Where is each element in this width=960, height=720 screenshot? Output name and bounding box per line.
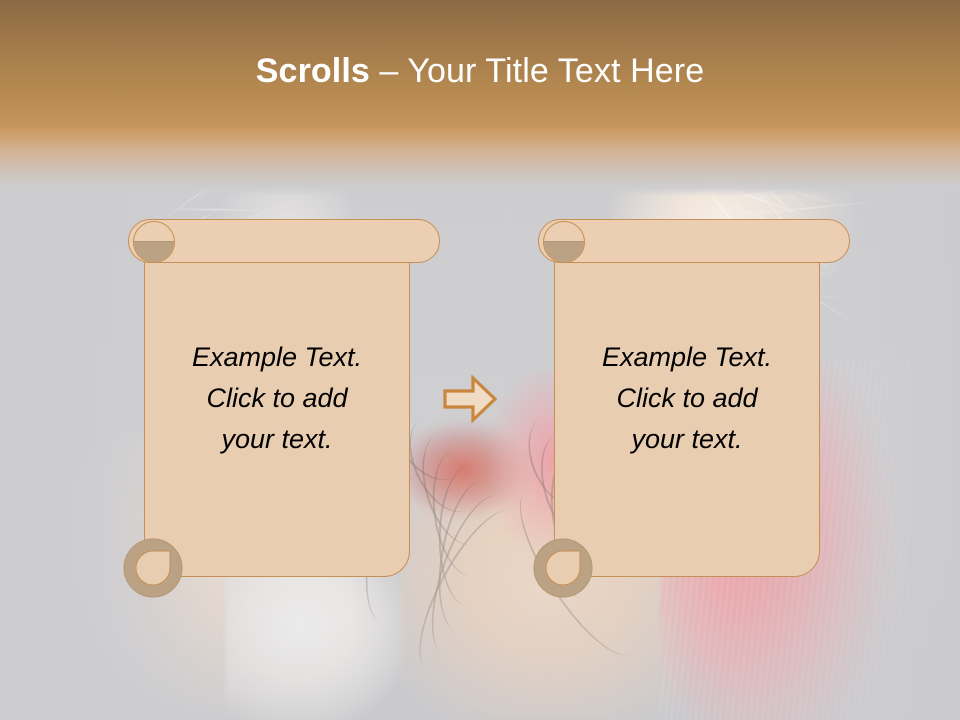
scroll-right-text-line-2: Click to add [554, 378, 820, 419]
scroll-right-top-curl-icon [543, 221, 585, 263]
page-title-normal: Your Title Text Here [407, 52, 704, 90]
scroll-left-text[interactable]: Example Text. Click to add your text. [144, 337, 410, 460]
scroll-left-text-line-3: your text. [144, 419, 410, 460]
scroll-left[interactable]: Example Text. Click to add your text. [128, 219, 458, 579]
scroll-right[interactable]: Example Text. Click to add your text. [538, 219, 868, 579]
right-arrow-icon [443, 375, 497, 423]
page-title-bold: Scrolls [256, 52, 370, 90]
header-band [0, 0, 960, 196]
scroll-right-text-line-3: your text. [554, 419, 820, 460]
scroll-right-text[interactable]: Example Text. Click to add your text. [554, 337, 820, 460]
page-title-separator: – [370, 52, 408, 90]
page-title: Scrolls – Your Title Text Here [0, 49, 960, 93]
slide-canvas: Scrolls – Your Title Text Here Example T… [0, 0, 960, 720]
scroll-left-text-line-2: Click to add [144, 378, 410, 419]
scroll-left-bottom-curl-icon [122, 537, 184, 599]
scroll-left-top-curl-icon [133, 221, 175, 263]
scroll-right-roll [538, 219, 850, 263]
scroll-left-text-line-1: Example Text. [144, 337, 410, 378]
scroll-right-bottom-curl-icon [532, 537, 594, 599]
scroll-right-text-line-1: Example Text. [554, 337, 820, 378]
scroll-left-roll [128, 219, 440, 263]
